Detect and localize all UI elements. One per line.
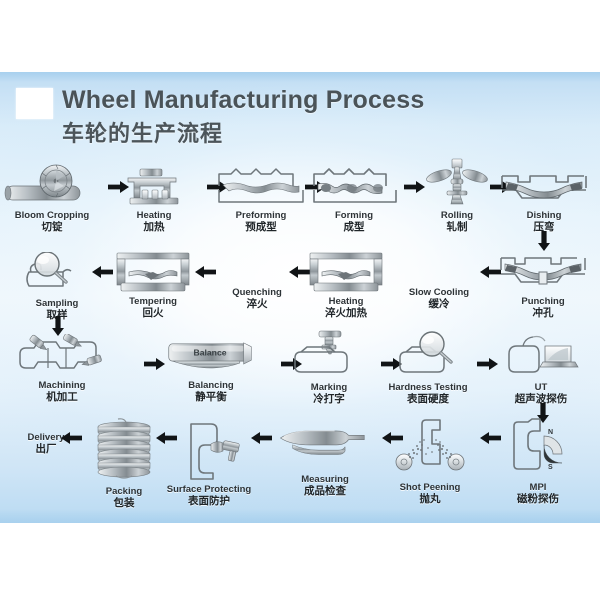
step-heating[interactable]: Heating 加热 (100, 164, 208, 234)
ultrasonic-monitor-icon (493, 330, 589, 380)
stamping-head-icon (281, 330, 377, 380)
magnet-ns-icon: N S (490, 418, 586, 480)
step-label-en: Forming (300, 210, 408, 221)
furnace-icon (106, 164, 202, 208)
shot-blast-icon (382, 418, 478, 480)
process-poster: Wheel Manufacturing Process 车轮的生产流程 B (0, 72, 600, 523)
step-label-en: Marking (275, 382, 383, 393)
step-label-en: Surface Protecting (155, 484, 263, 495)
step-label-cn: 冷打字 (275, 393, 383, 406)
tempering-furnace-icon (105, 250, 201, 294)
step-label-en: Hardness Testing (374, 382, 482, 393)
step-label-en: Bloom Cropping (0, 210, 106, 221)
step-label-cn: 回火 (99, 307, 207, 320)
step-label-cn: 预成型 (207, 221, 315, 234)
step-label-en: Slow Cooling (385, 287, 493, 298)
step-label-cn: 淬火加热 (292, 307, 400, 320)
step-bloom-cropping[interactable]: Bloom Cropping 切锭 (0, 164, 106, 234)
step-label-en: Tempering (99, 296, 207, 307)
step-label-cn: 磁粉探伤 (484, 493, 592, 506)
spray-gun-icon (161, 420, 257, 482)
step-forming[interactable]: Forming 成型 (300, 164, 408, 234)
step-label-en: Balancing (157, 380, 265, 391)
step-surface-protecting[interactable]: Surface Protecting 表面防护 (155, 420, 263, 508)
page-title-cn: 车轮的生产流程 (62, 116, 223, 148)
arrow-down-dishing (537, 231, 551, 251)
dishing-press-icon (496, 164, 592, 208)
company-logo (16, 88, 53, 119)
step-marking[interactable]: Marking 冷打字 (275, 330, 383, 406)
step-label-en: Preforming (207, 210, 315, 221)
step-label-cn: 静平衡 (157, 391, 265, 404)
step-label-cn: 成品检查 (271, 485, 379, 498)
step-label-en: Shot Peening (376, 482, 484, 493)
step-label-en: UT (487, 382, 595, 393)
step-machining[interactable]: Machining 机加工 (8, 334, 116, 404)
arrow-down-sampling (51, 316, 65, 336)
arrow-left-4c (250, 431, 272, 445)
step-preforming[interactable]: Preforming 预成型 (207, 164, 315, 234)
step-label-cn: 缓冷 (385, 298, 493, 311)
step-sampling[interactable]: Sampling 取样 (3, 252, 111, 322)
step-label-en: Machining (8, 380, 116, 391)
step-heating-quench[interactable]: Heating 淬火加热 (292, 250, 400, 320)
step-label-cn: 成型 (300, 221, 408, 234)
step-measuring[interactable]: Measuring 成品检查 (271, 424, 379, 498)
step-label-cn: 表面防护 (155, 495, 263, 508)
page-title-en: Wheel Manufacturing Process (62, 86, 424, 115)
magnet-north-label: N (548, 429, 553, 436)
step-label-cn: 冲孔 (489, 307, 597, 320)
lathe-tool-icon (14, 334, 110, 378)
step-slow-cooling[interactable]: Slow Cooling 缓冷 (385, 285, 493, 311)
step-label-en: MPI (484, 482, 592, 493)
magnet-south-label: S (548, 464, 553, 471)
step-label-cn: 表面硬度 (374, 393, 482, 406)
step-shot-peening[interactable]: Shot Peening 抛丸 (376, 418, 484, 506)
punching-press-icon (495, 250, 591, 294)
balance-badge-text: Balance (193, 347, 226, 357)
step-label-cn: 加热 (100, 221, 208, 234)
step-label-en: Measuring (271, 474, 379, 485)
step-balancing[interactable]: Balance Balancing 静平衡 (157, 340, 265, 404)
step-label-cn: 机加工 (8, 391, 116, 404)
step-tempering[interactable]: Tempering 回火 (99, 250, 207, 320)
forming-die-icon (306, 164, 402, 208)
step-label-cn: 切锭 (0, 221, 106, 234)
step-label-en: Heating (100, 210, 208, 221)
step-hardness-testing[interactable]: Hardness Testing 表面硬度 (374, 330, 482, 406)
step-dishing[interactable]: Dishing 压弯 (490, 164, 598, 234)
measuring-gauge-icon (277, 424, 373, 472)
step-label-en: Sampling (3, 298, 111, 309)
step-punching[interactable]: Punching 冲孔 (489, 250, 597, 320)
step-label-cn: 抛丸 (376, 493, 484, 506)
step-label-en: Heating (292, 296, 400, 307)
step-label-en: Dishing (490, 210, 598, 221)
balance-machine-icon: Balance (163, 340, 259, 378)
step-mpi[interactable]: N S MPI 磁粉探伤 (484, 418, 592, 506)
magnifier-hardness-icon (380, 330, 476, 380)
arrow-left-2b (194, 265, 216, 279)
step-ut[interactable]: UT 超声波探伤 (487, 330, 595, 406)
quench-furnace-icon (298, 250, 394, 294)
preform-die-icon (213, 164, 309, 208)
saw-blade-billet-icon (4, 164, 100, 208)
step-label-en: Punching (489, 296, 597, 307)
